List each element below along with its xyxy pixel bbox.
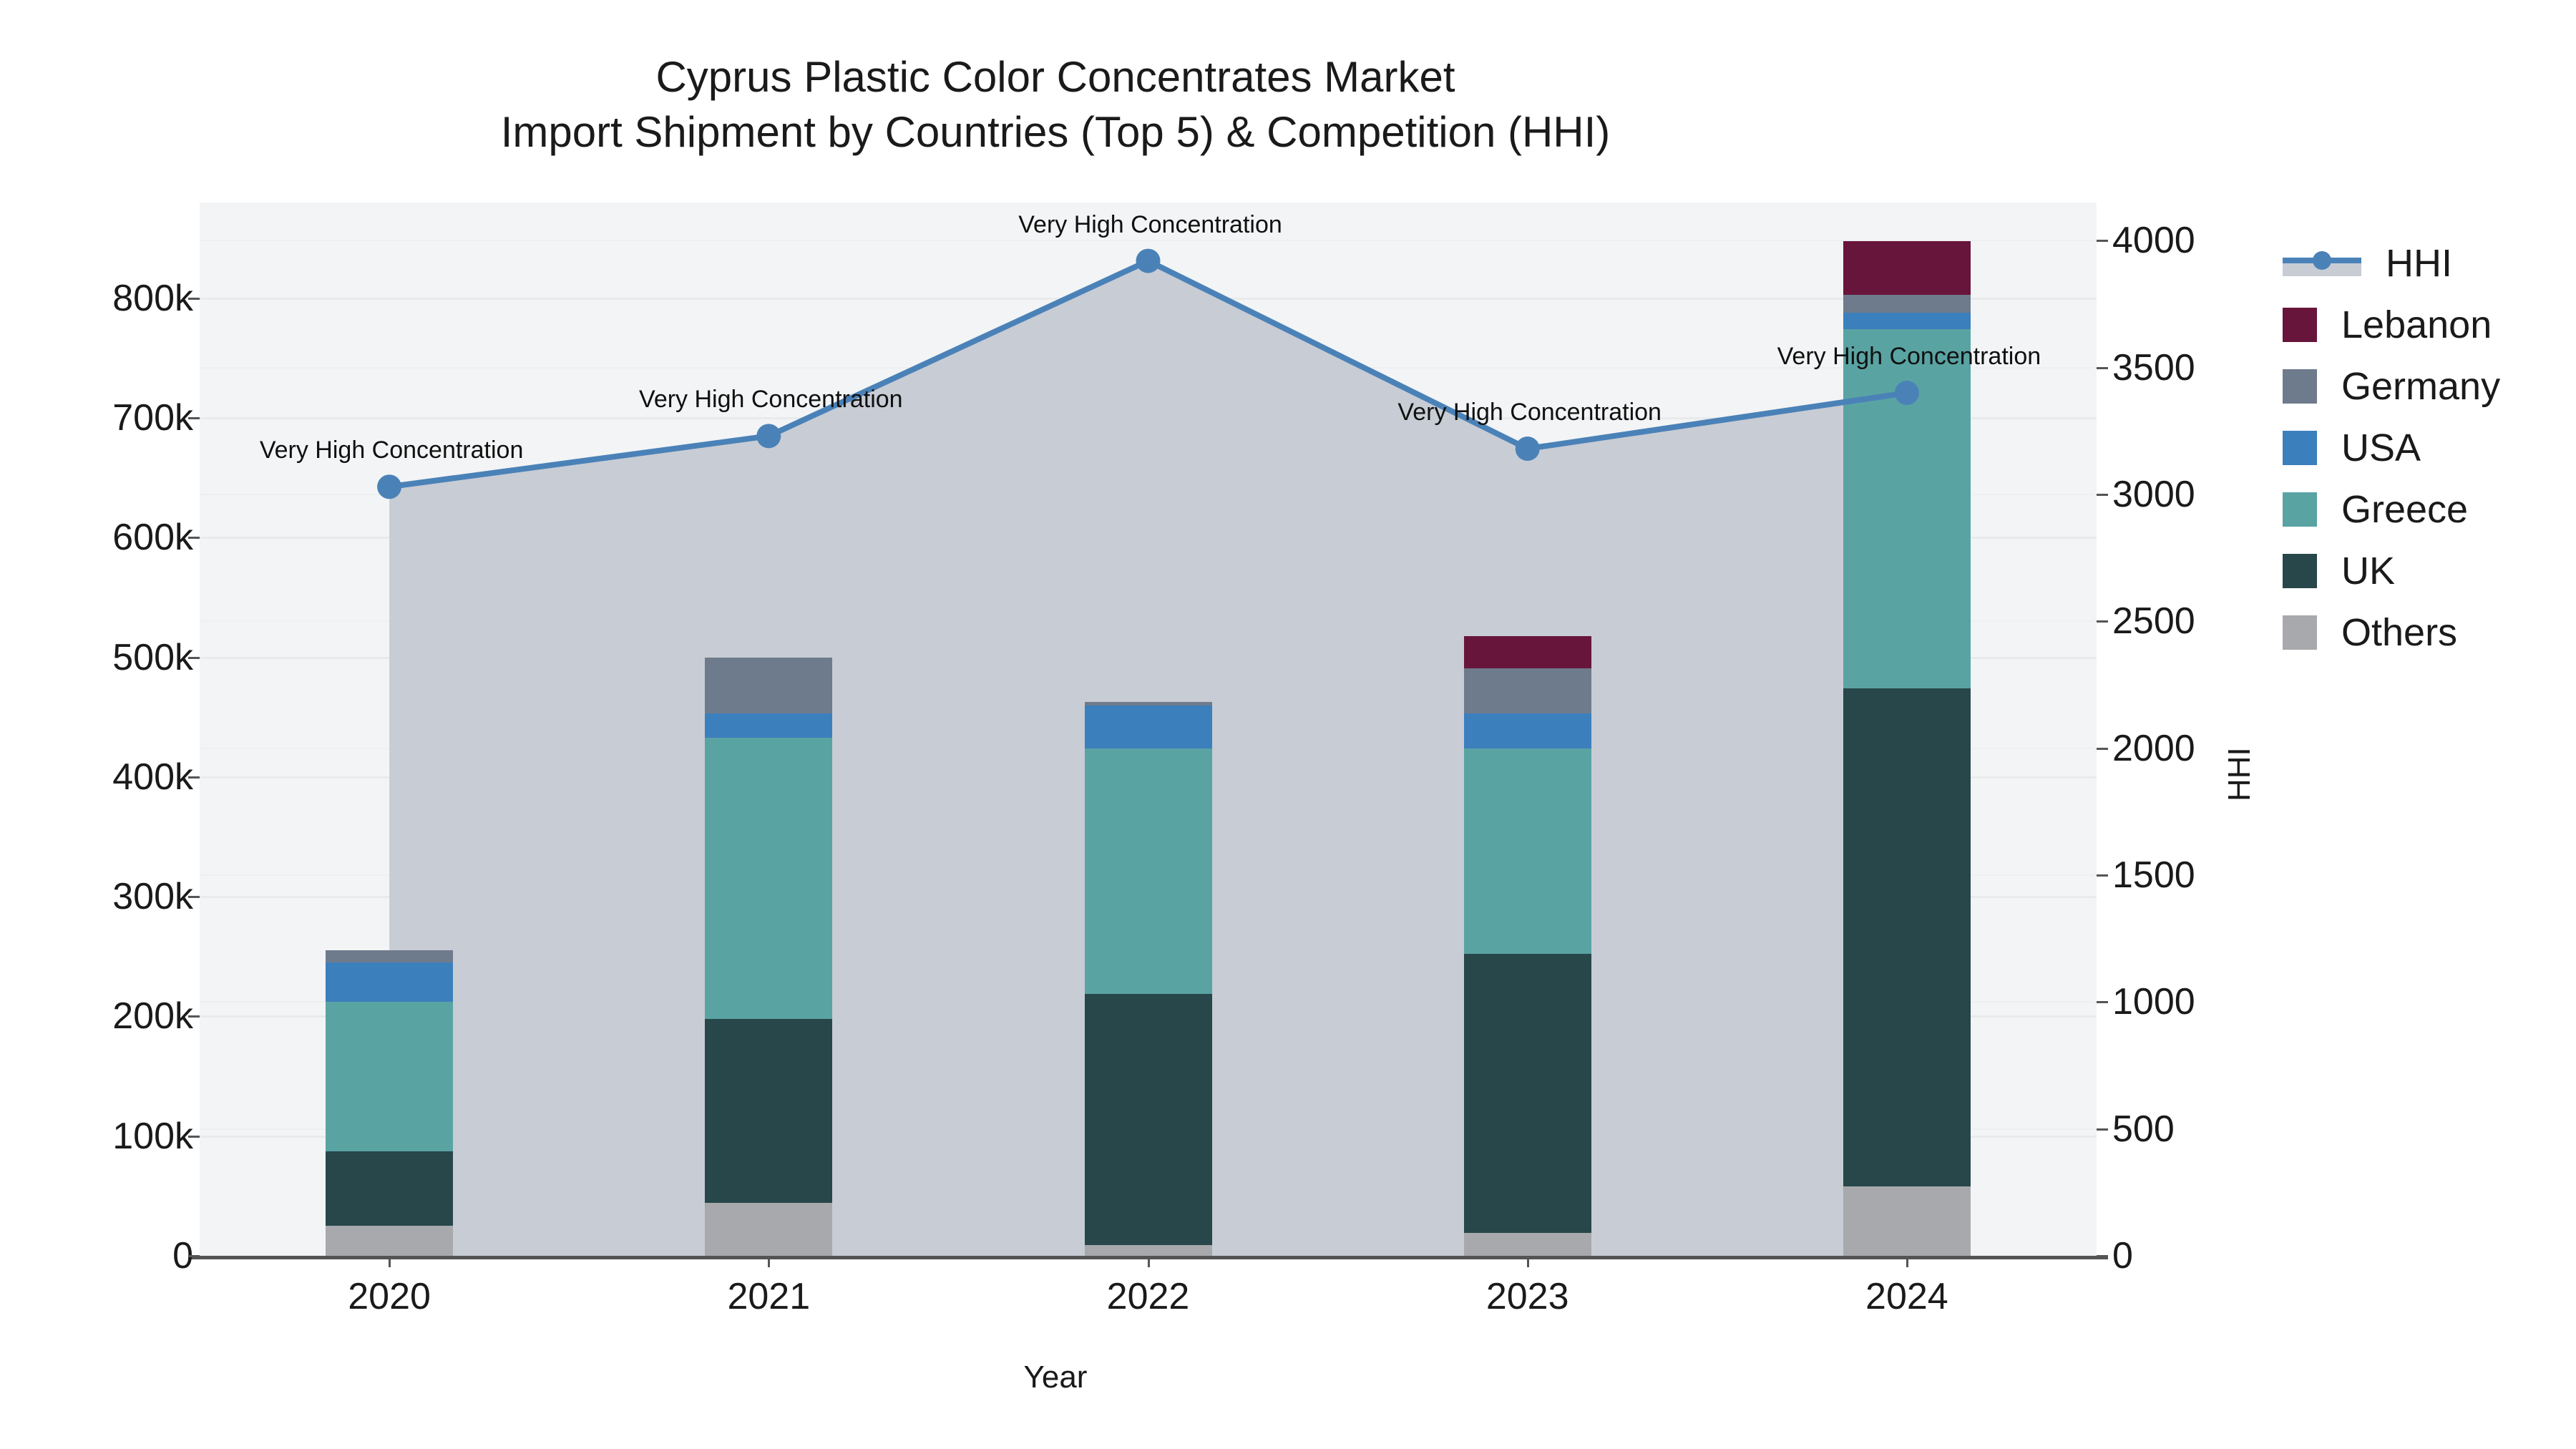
y-tickmark-left: [188, 1015, 200, 1018]
bar-segment-uk-2021[interactable]: [705, 1019, 832, 1204]
y-tick-right-1500: 1500: [2112, 854, 2195, 897]
y-tickmark-right: [2097, 367, 2108, 369]
legend-swatch-greece: [2283, 492, 2317, 527]
legend-item-germany[interactable]: Germany: [2283, 356, 2500, 417]
hhi-annotation-2024: Very High Concentration: [1777, 343, 2041, 371]
y-tick-left-700k: 700k: [112, 396, 193, 439]
bar-segment-germany-2021[interactable]: [705, 658, 832, 714]
hhi-annotation-2020: Very High Concentration: [260, 436, 524, 464]
y-tick-left-600k: 600k: [112, 516, 193, 559]
y-tickmark-right: [2097, 1255, 2108, 1257]
y-tickmark-right: [2097, 874, 2108, 877]
bar-segment-others-2021[interactable]: [705, 1203, 832, 1256]
bar-segment-uk-2024[interactable]: [1843, 688, 1971, 1186]
legend-label-hhi: HHI: [2386, 241, 2452, 286]
y-tick-left-300k: 300k: [112, 875, 193, 918]
x-tick-2023: 2023: [1486, 1275, 1569, 1318]
legend-label-germany: Germany: [2341, 364, 2500, 409]
chart-title-line-2: Import Shipment by Countries (Top 5) & C…: [0, 105, 2111, 160]
y-tick-right-3500: 3500: [2112, 346, 2195, 389]
y-tick-right-3000: 3000: [2112, 473, 2195, 516]
bar-segment-germany-2024[interactable]: [1843, 295, 1971, 313]
bar-segment-others-2020[interactable]: [326, 1226, 453, 1256]
y-tickmark-left: [188, 1255, 200, 1257]
y-tickmark-left: [188, 537, 200, 539]
legend-line-swatch: [2283, 246, 2361, 280]
legend-item-hhi[interactable]: HHI: [2283, 233, 2500, 294]
bar-segment-uk-2023[interactable]: [1464, 954, 1591, 1233]
legend-label-others: Others: [2341, 610, 2457, 655]
legend-label-usa: USA: [2341, 426, 2421, 470]
hhi-annotation-2023: Very High Concentration: [1397, 399, 1662, 426]
y-tickmark-left: [188, 896, 200, 898]
y-tickmark-left: [188, 1136, 200, 1138]
bar-segment-lebanon-2023[interactable]: [1464, 636, 1591, 668]
x-tickmark: [1906, 1256, 1908, 1267]
legend-swatch-others: [2283, 615, 2317, 650]
bar-segment-usa-2022[interactable]: [1085, 706, 1212, 748]
x-tickmark: [389, 1256, 391, 1267]
bar-segment-greece-2023[interactable]: [1464, 748, 1591, 955]
x-tick-2022: 2022: [1107, 1275, 1190, 1318]
bar-segment-germany-2020[interactable]: [326, 950, 453, 962]
y-tickmark-right: [2097, 240, 2108, 242]
y-tickmark-right: [2097, 494, 2108, 496]
y-tick-left-500k: 500k: [112, 636, 193, 679]
legend-swatch-uk: [2283, 554, 2317, 588]
x-tick-2024: 2024: [1865, 1275, 1948, 1318]
bar-segment-usa-2024[interactable]: [1843, 313, 1971, 329]
legend-label-greece: Greece: [2341, 487, 2468, 532]
hhi-annotation-2021: Very High Concentration: [639, 386, 903, 414]
y-axis-right-label: HHI: [2222, 747, 2258, 801]
legend-item-usa[interactable]: USA: [2283, 417, 2500, 479]
chart-title: Cyprus Plastic Color Concentrates Market…: [0, 50, 2111, 160]
y-tickmark-right: [2097, 1128, 2108, 1131]
bar-segment-uk-2020[interactable]: [326, 1151, 453, 1226]
legend-swatch-usa: [2283, 431, 2317, 465]
bar-segment-usa-2020[interactable]: [326, 962, 453, 1002]
legend-label-uk: UK: [2341, 549, 2395, 593]
y-tick-right-2500: 2500: [2112, 600, 2195, 643]
chart-title-line-1: Cyprus Plastic Color Concentrates Market: [0, 50, 2111, 105]
bar-segment-greece-2020[interactable]: [326, 1002, 453, 1151]
chart-figure: Cyprus Plastic Color Concentrates Market…: [0, 0, 2576, 1449]
legend-swatch-lebanon: [2283, 308, 2317, 342]
bar-segment-lebanon-2024[interactable]: [1843, 241, 1971, 295]
legend-label-lebanon: Lebanon: [2341, 303, 2492, 347]
legend-swatch-germany: [2283, 369, 2317, 404]
y-tick-right-1000: 1000: [2112, 980, 2195, 1023]
y-tickmark-left: [188, 657, 200, 659]
bar-segment-greece-2024[interactable]: [1843, 329, 1971, 688]
y-tick-left-200k: 200k: [112, 995, 193, 1038]
y-tick-right-2000: 2000: [2112, 727, 2195, 770]
legend-item-uk[interactable]: UK: [2283, 540, 2500, 602]
y-tick-left-800k: 800k: [112, 277, 193, 320]
x-tickmark: [1148, 1256, 1150, 1267]
y-tick-left-400k: 400k: [112, 756, 193, 799]
y-tick-left-100k: 100k: [112, 1115, 193, 1158]
bar-segment-germany-2023[interactable]: [1464, 668, 1591, 714]
x-tickmark: [1527, 1256, 1529, 1267]
bar-segment-greece-2022[interactable]: [1085, 748, 1212, 994]
bar-segment-others-2023[interactable]: [1464, 1233, 1591, 1256]
y-tickmark-right: [2097, 748, 2108, 750]
y-tickmark-left: [188, 298, 200, 300]
chart-legend: HHILebanonGermanyUSAGreeceUKOthers: [2283, 233, 2500, 663]
y-tickmark-right: [2097, 1001, 2108, 1003]
bar-segment-greece-2021[interactable]: [705, 738, 832, 1019]
legend-item-lebanon[interactable]: Lebanon: [2283, 294, 2500, 356]
bar-segment-usa-2023[interactable]: [1464, 713, 1591, 748]
legend-item-others[interactable]: Others: [2283, 602, 2500, 663]
hhi-annotation-2022: Very High Concentration: [1018, 211, 1282, 239]
y-tick-right-500: 500: [2112, 1108, 2175, 1151]
bar-segment-others-2022[interactable]: [1085, 1245, 1212, 1256]
x-tickmark: [768, 1256, 770, 1267]
y-tickmark-left: [188, 417, 200, 419]
y-tick-right-0: 0: [2112, 1234, 2133, 1277]
y-tickmark-right: [2097, 620, 2108, 623]
bar-segment-uk-2022[interactable]: [1085, 994, 1212, 1245]
bar-segment-others-2024[interactable]: [1843, 1186, 1971, 1256]
x-tick-2021: 2021: [727, 1275, 810, 1318]
y-tickmark-left: [188, 776, 200, 779]
x-axis-label: Year: [0, 1360, 2111, 1395]
x-tick-2020: 2020: [348, 1275, 431, 1318]
bar-segment-germany-2022[interactable]: [1085, 702, 1212, 706]
y-tick-right-4000: 4000: [2112, 219, 2195, 262]
bar-segment-usa-2021[interactable]: [705, 713, 832, 737]
legend-item-greece[interactable]: Greece: [2283, 479, 2500, 540]
